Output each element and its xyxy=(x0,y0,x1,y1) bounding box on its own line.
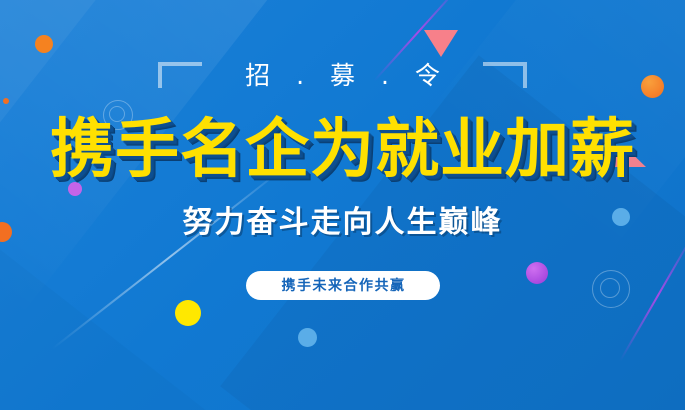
headline: 携手名企为就业加薪 xyxy=(0,118,685,182)
cta-button-label: 携手未来合作共赢 xyxy=(280,279,406,293)
ring-bottom-right-icon xyxy=(592,270,630,308)
kicker-row: 招 . 募 . 令 xyxy=(0,62,685,88)
lightblue-dot-center-icon xyxy=(298,328,317,347)
yellow-dot-left-icon xyxy=(175,300,201,326)
recruitment-banner: 招 . 募 . 令 携手名企为就业加薪 努力奋斗走向人生巅峰 携手未来合作共赢 xyxy=(0,0,685,410)
kicker-text: 招 . 募 . 令 xyxy=(236,63,449,88)
cta-button[interactable]: 携手未来合作共赢 xyxy=(246,271,440,300)
bracket-right-icon xyxy=(483,62,527,88)
purple-dot-bottom-right-icon xyxy=(526,262,548,284)
orange-dot-top-left-icon xyxy=(35,35,53,53)
bracket-left-icon xyxy=(158,62,202,88)
subtitle: 努力奋斗走向人生巅峰 xyxy=(0,208,685,238)
pink-triangle-down-icon xyxy=(424,30,458,57)
orange-dot-small-left-icon xyxy=(3,98,9,104)
